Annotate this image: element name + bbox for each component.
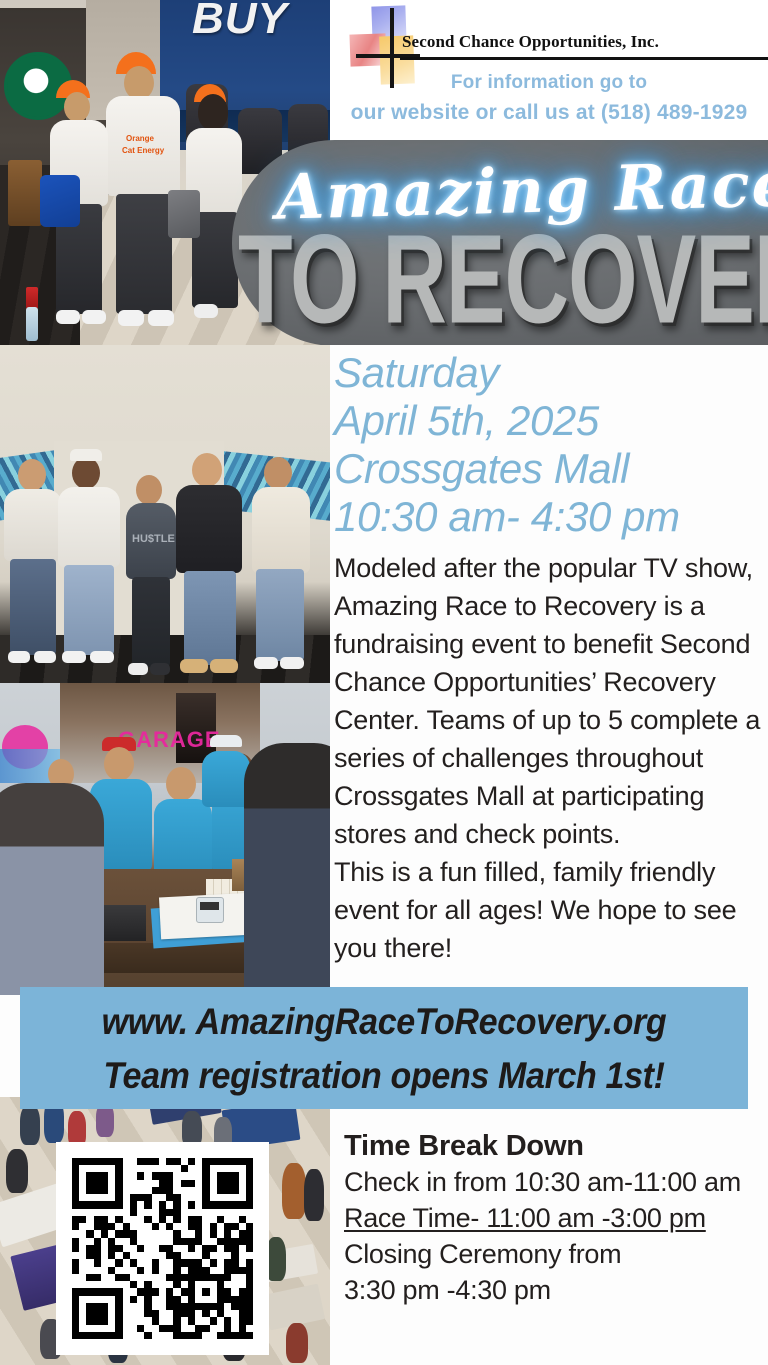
title-script-amazing-race: Amazing Race (275, 147, 768, 234)
website-registration-banner[interactable]: www. AmazingRaceToRecovery.org Team regi… (20, 987, 748, 1109)
event-description: Modeled after the popular TV show, Amazi… (334, 549, 766, 967)
qr-code-icon[interactable] (56, 1142, 269, 1355)
best-buy-sign-text: BUY (192, 0, 288, 44)
event-hours: 10:30 am- 4:30 pm (334, 493, 768, 541)
event-title-panel: Amazing Race TO RECOVERY (0, 140, 768, 345)
registration-note: Team registration opens March 1st! (49, 1055, 719, 1097)
time-breakdown-block: Time Break Down Check in from 10:30 am-1… (330, 1130, 768, 1309)
event-day: Saturday (334, 349, 768, 397)
time-breakdown-line: 3:30 pm -4:30 pm (344, 1273, 768, 1308)
website-url[interactable]: www. AmazingRaceToRecovery.org (49, 1001, 719, 1043)
flyer-header: Second Chance Opportunities, Inc. For in… (330, 0, 768, 140)
event-details-column: Saturday April 5th, 2025 Crossgates Mall… (330, 345, 768, 990)
time-breakdown-title: Time Break Down (344, 1130, 768, 1163)
time-breakdown-line: Check in from 10:30 am-11:00 am (344, 1165, 768, 1200)
header-info-line-2: our website or call us at (518) 489-1929 (330, 101, 768, 125)
event-when-block: Saturday April 5th, 2025 Crossgates Mall… (334, 349, 768, 541)
event-venue: Crossgates Mall (334, 445, 768, 493)
event-date: April 5th, 2025 (334, 397, 768, 445)
hustle-hoodie-text: HU$TLE (132, 533, 175, 545)
time-breakdown-line: Race Time- 11:00 am -3:00 pm (344, 1201, 768, 1236)
digital-timer (196, 897, 224, 923)
description-paragraph-1: Modeled after the popular TV show, Amazi… (334, 549, 766, 853)
header-info-line-1: For information go to (330, 72, 768, 94)
photo-group-of-five-mosaic-wall: HU$TLE (0, 345, 330, 683)
time-breakdown-line: Closing Ceremony from (344, 1237, 768, 1272)
flyer-page: BUY Orange Cat Energy (0, 0, 768, 1365)
header-divider (400, 57, 768, 60)
organization-name: Second Chance Opportunities, Inc. (402, 32, 762, 52)
description-paragraph-2: This is a fun filled, family friendly ev… (334, 853, 766, 967)
title-block-to-recovery: TO RECOVERY (238, 218, 768, 342)
photo-blue-shirt-teams-table-challenge: GARAGE (0, 683, 330, 995)
